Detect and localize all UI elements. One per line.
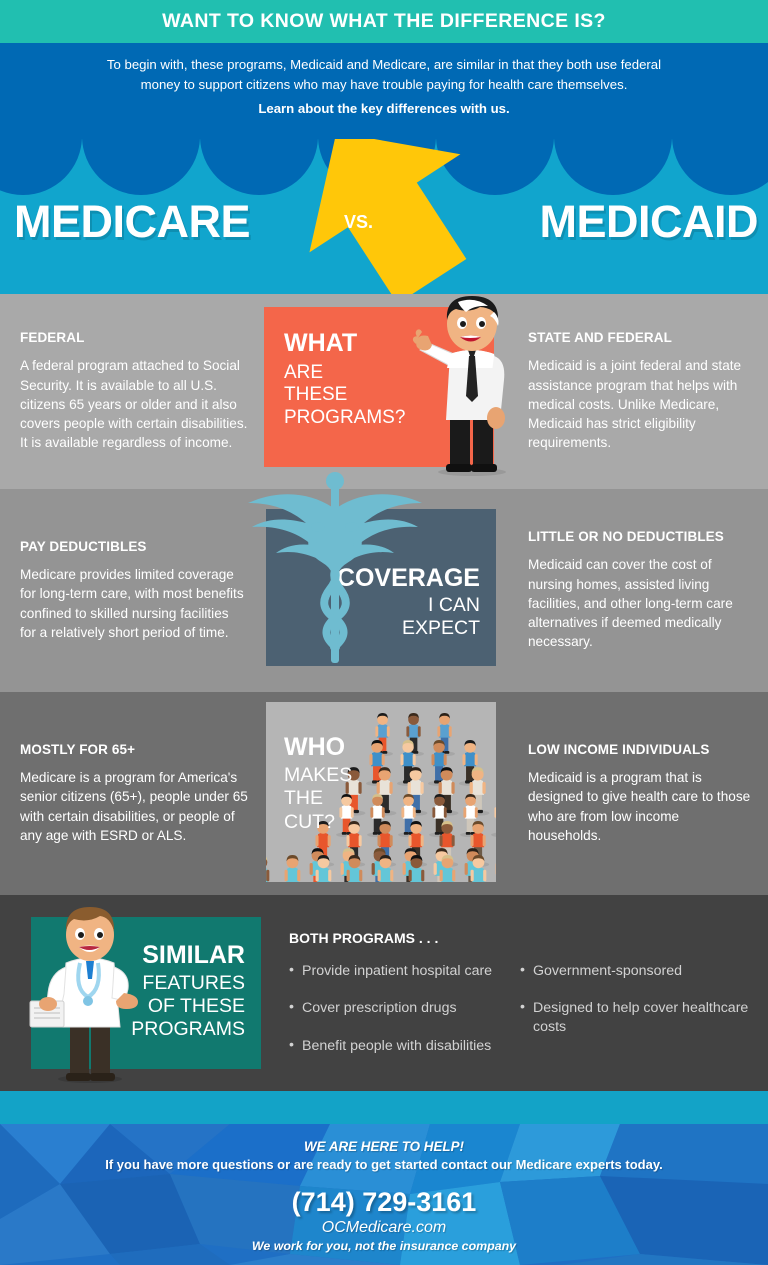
list-item: Designed to help cover healthcare costs [520, 999, 751, 1036]
footer-website[interactable]: OCMedicare.com [0, 1219, 768, 1237]
section1-center-graphic: WHAT ARE THESE PROGRAMS? [258, 294, 510, 489]
who-card-title: WHO [284, 735, 345, 760]
intro-line-2: money to support citizens who may have t… [34, 75, 734, 95]
what-card-subtitle: ARE THESE PROGRAMS? [284, 362, 405, 429]
section-similar-features: SIMILAR FEATURES OF THESE PROGRAMS [0, 895, 768, 1091]
section-coverage-i-can-expect: PAY DEDUCTIBLES Medicare provides limite… [0, 489, 768, 692]
list-item: Provide inpatient hospital care [289, 962, 520, 980]
section2-center-graphic: COVERAGE I CAN EXPECT [258, 489, 510, 692]
caduceus-icon [240, 467, 430, 667]
similar-card-subtitle: FEATURES OF THESE PROGRAMS [131, 972, 245, 1040]
section1-right-body: Medicaid is a joint federal and state as… [528, 356, 752, 452]
both-programs-heading: BOTH PROGRAMS . . . [289, 930, 751, 946]
footer-top-strip [0, 1091, 768, 1124]
section2-right-column: LITTLE OR NO DEDUCTIBLES Medicaid can co… [510, 529, 768, 651]
page-title: WANT TO KNOW WHAT THE DIFFERENCE IS? [162, 10, 606, 33]
section1-left-column: FEDERAL A federal program attached to So… [0, 330, 258, 452]
section1-left-body: A federal program attached to Social Sec… [20, 356, 248, 452]
footer-phone[interactable]: (714) 729-3161 [0, 1187, 768, 1218]
section3-left-column: MOSTLY FOR 65+ Medicare is a program for… [0, 742, 258, 845]
section3-left-heading: MOSTLY FOR 65+ [20, 742, 248, 757]
section2-right-heading: LITTLE OR NO DEDUCTIBLES [528, 529, 752, 544]
footer-subline: If you have more questions or are ready … [0, 1157, 768, 1172]
section-who-makes-the-cut: MOSTLY FOR 65+ Medicare is a program for… [0, 692, 768, 895]
versus-arrow-shape [296, 139, 476, 294]
section2-left-body: Medicare provides limited coverage for l… [20, 565, 248, 642]
hero-banner: MEDICARE VS. MEDICAID [0, 139, 768, 294]
hero-vs-label: VS. [344, 212, 373, 233]
who-card: WHO MAKES THE CUT? [266, 702, 496, 882]
intro-line-3: Learn about the key differences with us. [34, 99, 734, 119]
footer: WE ARE HERE TO HELP! If you have more qu… [0, 1124, 768, 1265]
section1-right-column: STATE AND FEDERAL Medicaid is a joint fe… [510, 330, 768, 452]
section-what-are-these-programs: FEDERAL A federal program attached to So… [0, 294, 768, 489]
what-card-title: WHAT [284, 331, 357, 356]
intro-line-1: To begin with, these programs, Medicaid … [34, 55, 734, 75]
list-item: Benefit people with disabilities [289, 1037, 520, 1055]
section2-right-body: Medicaid can cover the cost of nursing h… [528, 555, 752, 651]
footer-tagline: WE ARE HERE TO HELP! [0, 1139, 768, 1154]
doctor-illustration [24, 905, 148, 1083]
section3-left-body: Medicare is a program for America's seni… [20, 768, 248, 845]
section2-left-column: PAY DEDUCTIBLES Medicare provides limite… [0, 539, 258, 642]
section2-left-heading: PAY DEDUCTIBLES [20, 539, 248, 554]
hero-right-label: MEDICAID [540, 196, 759, 248]
section1-left-heading: FEDERAL [20, 330, 248, 345]
footer-slogan: We work for you, not the insurance compa… [0, 1239, 768, 1253]
both-programs-list-left: Provide inpatient hospital care Cover pr… [289, 962, 520, 1074]
hero-left-label: MEDICARE [14, 196, 250, 248]
section1-right-heading: STATE AND FEDERAL [528, 330, 752, 345]
list-item: Government-sponsored [520, 962, 751, 980]
businessman-illustration [410, 296, 530, 476]
header-banner: WANT TO KNOW WHAT THE DIFFERENCE IS? [0, 0, 768, 43]
section3-right-body: Medicaid is a program that is designed t… [528, 768, 752, 845]
who-card-subtitle: MAKES THE CUT? [284, 764, 352, 834]
section3-right-column: LOW INCOME INDIVIDUALS Medicaid is a pro… [510, 742, 768, 845]
both-programs-block: BOTH PROGRAMS . . . Provide inpatient ho… [289, 930, 751, 1074]
intro-band: To begin with, these programs, Medicaid … [0, 43, 768, 139]
both-programs-list-right: Government-sponsored Designed to help co… [520, 962, 751, 1074]
similar-card-title: SIMILAR [142, 943, 245, 968]
list-item: Cover prescription drugs [289, 999, 520, 1017]
infographic-page: WANT TO KNOW WHAT THE DIFFERENCE IS? To … [0, 0, 768, 1265]
section3-center-graphic: WHO MAKES THE CUT? [258, 692, 510, 895]
section3-right-heading: LOW INCOME INDIVIDUALS [528, 742, 752, 757]
